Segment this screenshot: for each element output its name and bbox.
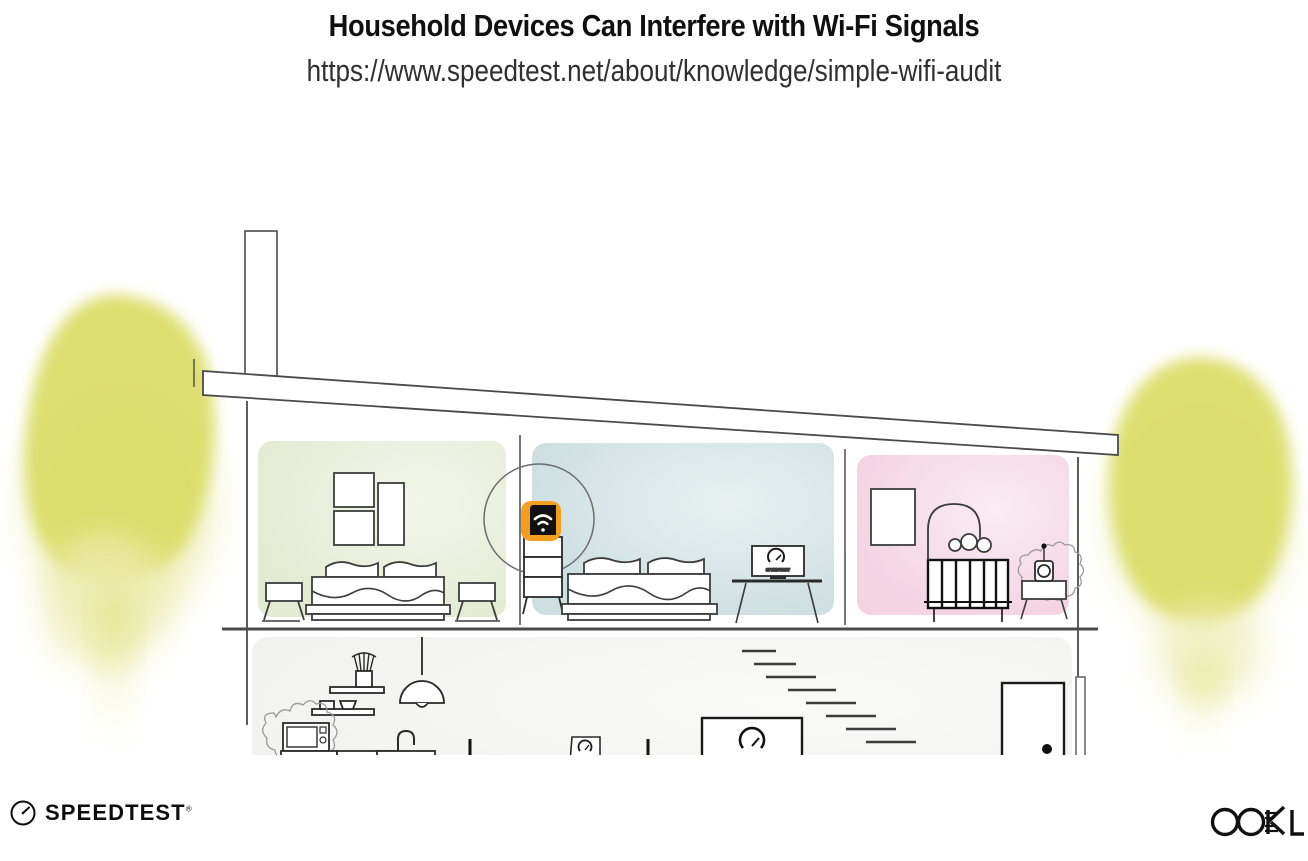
microwave bbox=[283, 723, 329, 751]
living-room: SPEEDTEST bbox=[690, 718, 810, 755]
bed-blue bbox=[562, 558, 717, 620]
bedroom-tv-brand-text: SPEEDTEST bbox=[766, 568, 791, 572]
speedtest-gauge-icon bbox=[10, 800, 36, 826]
bedroom-tv: SPEEDTEST bbox=[752, 546, 804, 579]
bed-green bbox=[306, 562, 450, 620]
source-url: https://www.speedtest.net/about/knowledg… bbox=[105, 44, 1204, 89]
poster-page: Household Devices Can Interfere with Wi-… bbox=[0, 0, 1308, 861]
header: Household Devices Can Interfere with Wi-… bbox=[0, 0, 1308, 110]
room-ground-floor bbox=[252, 637, 1072, 755]
nursery-side-table bbox=[1022, 581, 1066, 599]
door-knob bbox=[1042, 744, 1052, 754]
exterior-downspout bbox=[1076, 677, 1085, 755]
speedtest-trademark: ® bbox=[186, 805, 192, 814]
living-room-tv: SPEEDTEST bbox=[702, 718, 802, 755]
kitchen-cabinets bbox=[281, 751, 435, 755]
house-cutaway-illustration: SPEEDTEST bbox=[0, 105, 1308, 755]
tree-right bbox=[1108, 357, 1292, 731]
tree-left bbox=[25, 295, 215, 725]
speedtest-wordmark-text: SPEEDTEST bbox=[45, 800, 186, 825]
speedtest-logo: SPEEDTEST® bbox=[10, 800, 192, 826]
laptop: SPEEDTEST bbox=[566, 737, 604, 755]
page-title: Household Devices Can Interfere with Wi-… bbox=[78, 0, 1229, 44]
ookla-wordmark-icon bbox=[1208, 802, 1308, 842]
ookla-logo bbox=[1208, 802, 1308, 842]
nursery-wall-art bbox=[871, 489, 915, 545]
chimney bbox=[245, 231, 277, 381]
wifi-router-icon bbox=[521, 501, 561, 541]
footer: SPEEDTEST® bbox=[0, 780, 1308, 861]
speedtest-wordmark: SPEEDTEST® bbox=[45, 800, 192, 826]
